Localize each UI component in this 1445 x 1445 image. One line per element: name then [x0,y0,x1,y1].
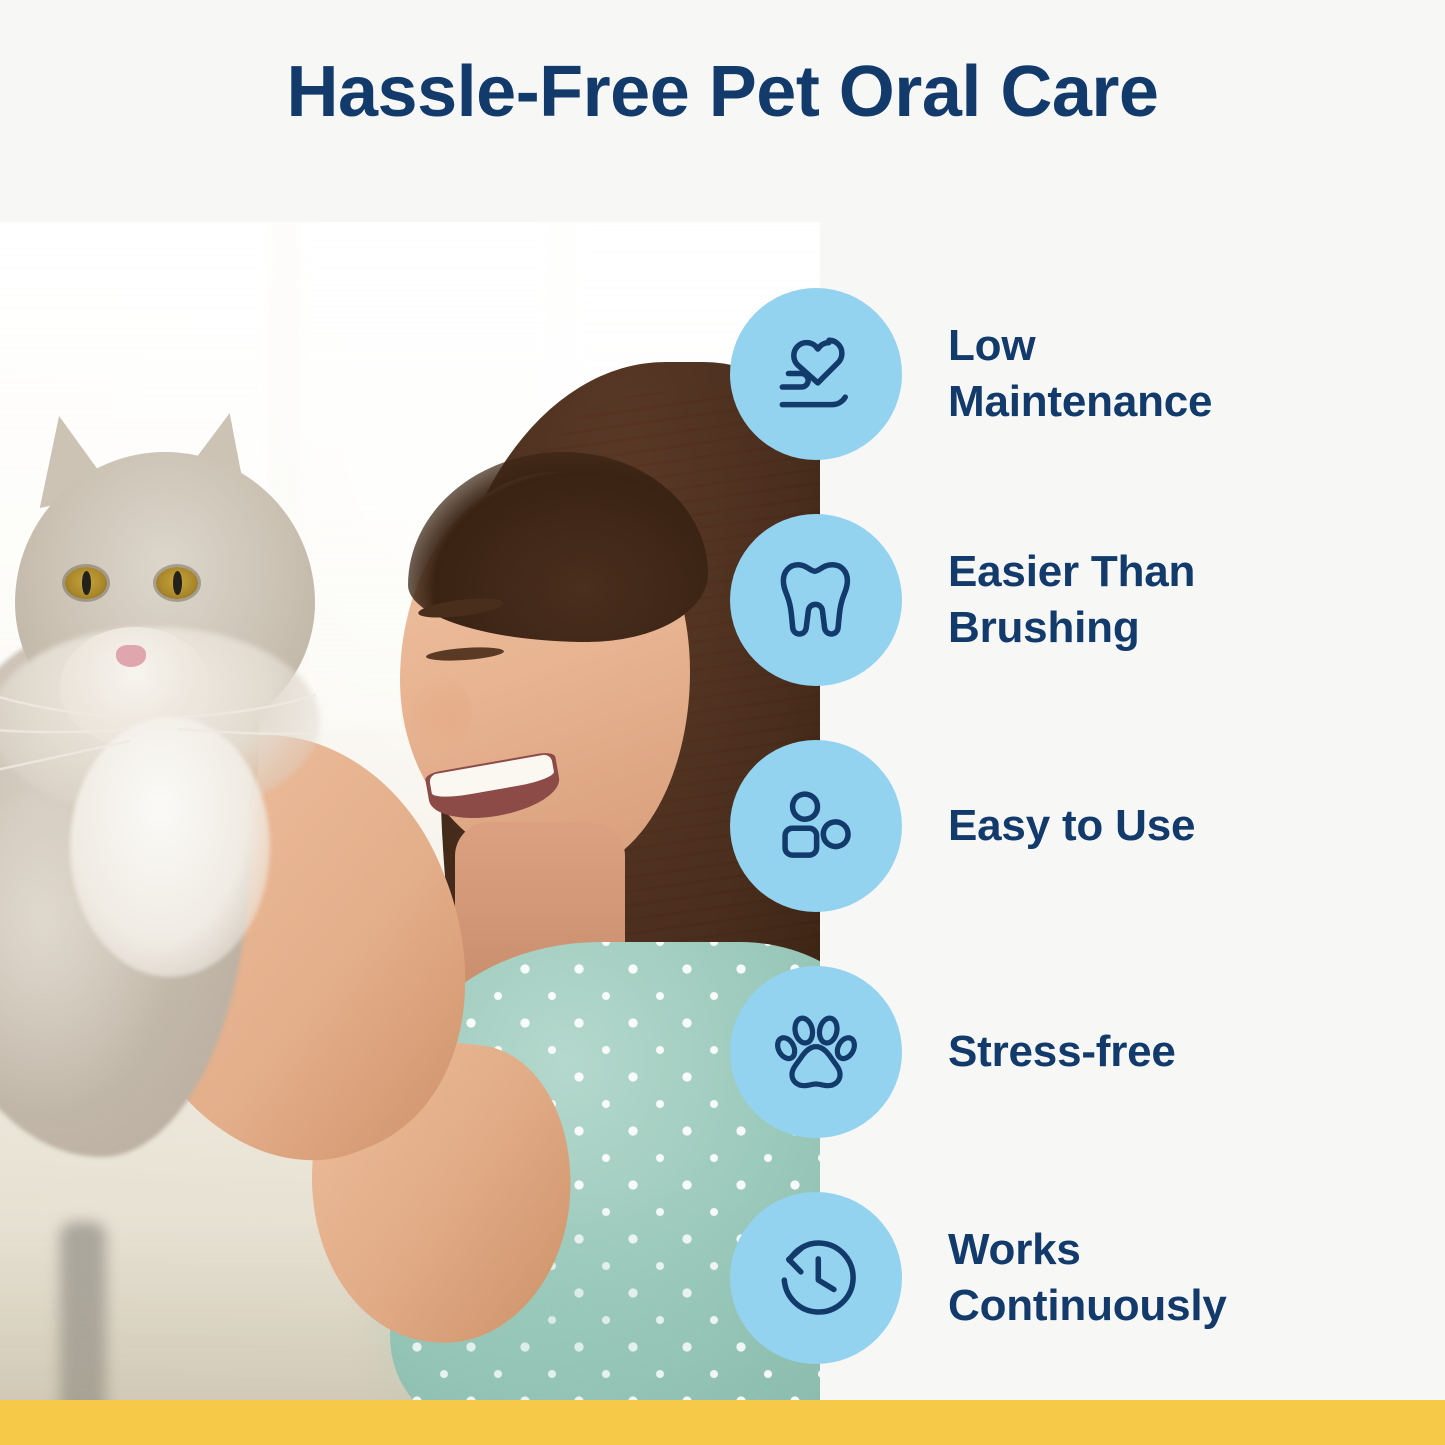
chews-icon [767,777,865,875]
feature-list: Low Maintenance Easier Than Brushing [730,288,1430,1388]
cat-eye [156,567,198,599]
cat-eye [65,567,107,599]
cat-whiskers [0,657,320,797]
hand-heart-icon [767,325,865,423]
icon-badge [730,966,902,1138]
cat-figure [0,357,390,1157]
blurred-bottle [60,1222,106,1400]
paw-print-icon [767,1003,865,1101]
icon-badge [730,740,902,912]
icon-badge [730,1192,902,1364]
infographic-root: Hassle-Free Pet Oral Care [0,0,1445,1445]
icon-badge [730,288,902,460]
title-bar: Hassle-Free Pet Oral Care [0,0,1445,222]
feature-label: Easier Than Brushing [948,544,1308,656]
nose [400,672,472,756]
feature-item[interactable]: Easier Than Brushing [730,514,1430,686]
feature-label: Works Continuously [948,1222,1308,1334]
tooth-icon [767,551,865,649]
clock-arrow-icon [767,1229,865,1327]
feature-label: Stress-free [948,1024,1176,1080]
bottom-accent-bar [0,1400,1445,1445]
page-title: Hassle-Free Pet Oral Care [287,56,1159,166]
hero-photo [0,222,820,1400]
feature-item[interactable]: Stress-free [730,966,1430,1138]
feature-label: Easy to Use [948,798,1195,854]
feature-item[interactable]: Works Continuously [730,1192,1430,1364]
feature-item[interactable]: Easy to Use [730,740,1430,912]
feature-item[interactable]: Low Maintenance [730,288,1430,460]
feature-label: Low Maintenance [948,318,1308,430]
icon-badge [730,514,902,686]
